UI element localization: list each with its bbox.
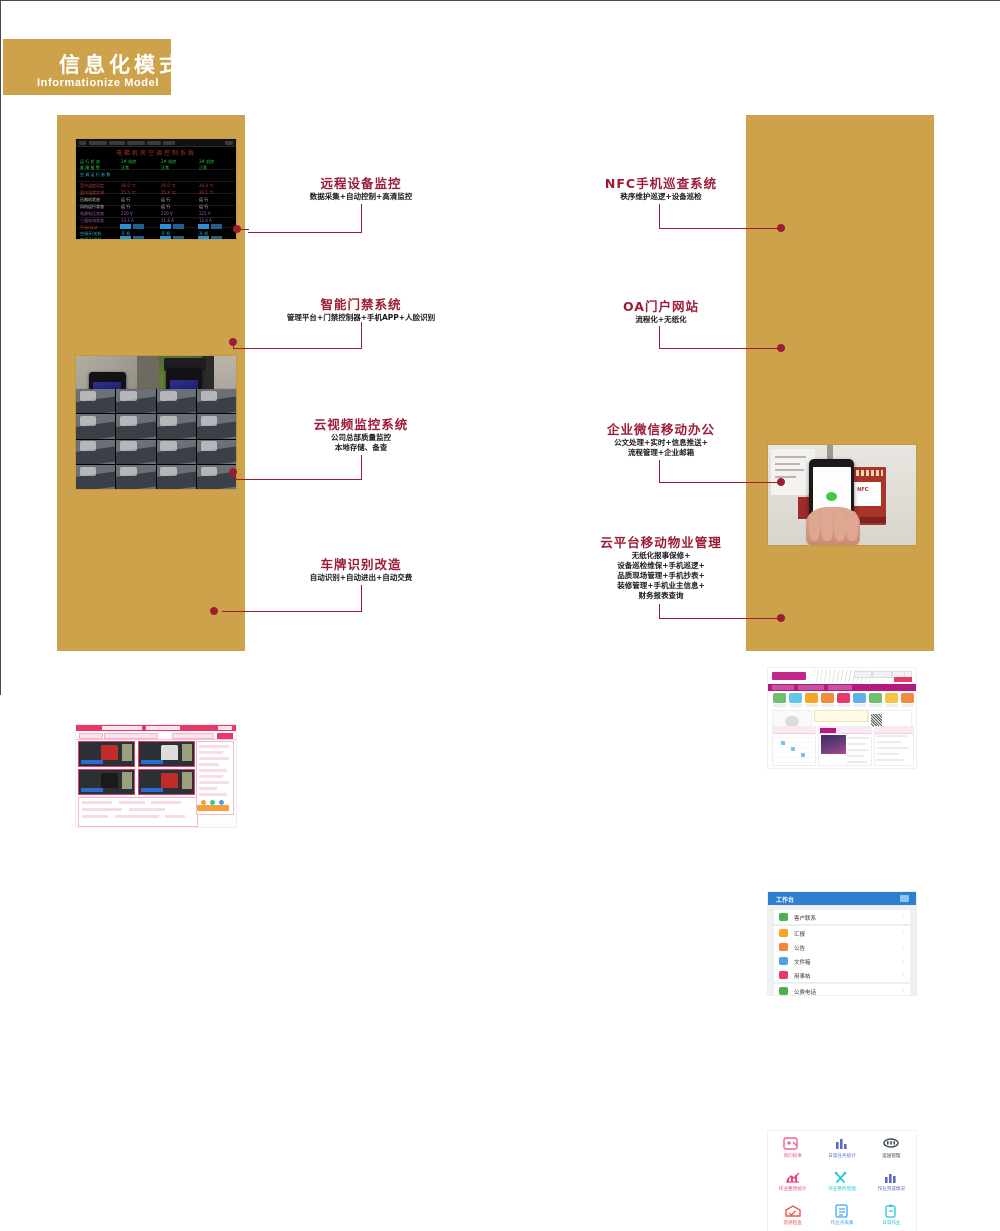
oa-notice-strip <box>814 710 868 722</box>
connector-line <box>659 482 781 484</box>
cctv-tile <box>76 440 115 464</box>
label-subtitle: 流程化+无纸化 <box>559 315 763 325</box>
label-cloud-video-surveillance: 云视频监控系统 公司总部质量监控 本地存储、备查 <box>259 417 463 453</box>
phone-icon <box>779 987 788 995</box>
cctv-tile <box>76 414 115 438</box>
connector-line <box>233 479 249 481</box>
poster-root: 信息化模式 Informationize Model 电梯机房空调控制系统 运 … <box>0 0 1000 695</box>
hand <box>806 507 859 545</box>
label-license-plate-recognition: 车牌识别改造 自动识别+自动进出+自动交费 <box>259 557 463 583</box>
cctv-tile <box>197 414 236 438</box>
oa-calendar-panel[interactable] <box>772 726 816 766</box>
cctv-tile <box>76 465 115 489</box>
label-cloud-mobile-property-management: 云平台移动物业管理 无纸化报事保修+ 设备巡检维保+手机巡逻+ 品质现场管理+手… <box>559 535 763 601</box>
cctv-tile <box>157 440 196 464</box>
list-item-label: 汇报 <box>794 930 805 938</box>
nfc-scan-indicator <box>826 492 837 502</box>
tile-label: 日常作业 <box>867 1220 916 1226</box>
chevron-right-icon: › <box>903 930 905 937</box>
list-item-label: 公费电话 <box>794 988 816 995</box>
anpr-confirm-button[interactable] <box>197 805 229 811</box>
connector-line <box>361 322 363 348</box>
transport-icon <box>881 1136 901 1152</box>
cctv-tile <box>197 440 236 464</box>
list-item[interactable]: 汇报 › <box>774 926 910 941</box>
connector-line <box>659 618 781 620</box>
report-icon <box>779 929 788 937</box>
tile-label: 我的报事 <box>768 1153 817 1159</box>
label-subtitle: 数据采集+自动控制+高清监控 <box>259 192 463 202</box>
wx-plus-icon[interactable] <box>900 895 909 902</box>
label-subtitle: 公文处理+实时+信息推送+ <box>559 438 763 448</box>
cctv-tile <box>116 414 155 438</box>
cctv-tile <box>116 465 155 489</box>
list-item[interactable]: 客户联系 › <box>774 910 910 925</box>
label-nfc-mobile-patrol: NFC手机巡查系统 秩序维护巡逻+设备巡检 <box>559 176 763 202</box>
connector-line <box>222 611 362 613</box>
label-enterprise-wechat-mobile-office: 企业微信移动办公 公文处理+实时+信息推送+ 流程管理+企业邮箱 <box>559 422 763 458</box>
anpr-toolbar[interactable] <box>76 731 236 740</box>
tile-rectify-mgmt[interactable]: 作业整改管理 <box>817 1164 866 1197</box>
label-title: 智能门禁系统 <box>249 297 473 313</box>
label-subtitle: 财务报表查询 <box>559 591 763 601</box>
note-icon <box>779 971 788 979</box>
connector-line <box>659 228 781 230</box>
list-item-label: 用事帖 <box>794 972 811 980</box>
scada-grid: 运 行 状 态 故 障 报 警 空 调 运 行 参 数 室内温度设定 室内温度实… <box>78 157 234 237</box>
label-subtitle: 秩序维护巡逻+设备巡检 <box>559 192 763 202</box>
label-subtitle: 装修管理+手机业主信息+ <box>559 581 763 591</box>
connector-line <box>361 585 363 611</box>
anpr-camera-views <box>78 741 196 795</box>
connector-line <box>237 229 249 231</box>
cctv-tile <box>197 389 236 413</box>
list-item-label: 公告 <box>794 944 805 952</box>
tile-workpoint-collect[interactable]: 作业点采集 <box>817 1198 866 1231</box>
home-check-icon <box>783 1203 803 1219</box>
cctv-multi-view-grid <box>76 389 236 489</box>
list-item-label: 文件箱 <box>794 958 811 966</box>
license-plate-recognition-software <box>76 725 236 827</box>
enterprise-wechat-workbench-screenshot: 工作台 客户联系 › 汇报 › 公告 › 文件箱 › 用事帖 › <box>768 892 916 995</box>
label-title: 远程设备监控 <box>259 176 463 192</box>
connector-line <box>248 232 362 234</box>
list-item[interactable]: 用事帖 › <box>774 968 910 983</box>
page-title-cn: 信息化模式 <box>59 49 184 79</box>
connector-line <box>659 460 661 482</box>
connector-line <box>248 348 362 350</box>
label-oa-portal-website: OA门户网站 流程化+无纸化 <box>559 299 763 325</box>
anpr-capture-list[interactable] <box>78 797 198 827</box>
connector-line <box>361 455 363 479</box>
chevron-right-icon: › <box>903 958 905 965</box>
oa-quick-icons[interactable] <box>771 693 913 707</box>
label-remote-equipment-monitoring: 远程设备监控 数据采集+自动控制+高清监控 <box>259 176 463 202</box>
label-subtitle: 流程管理+企业邮箱 <box>559 448 763 458</box>
tile-rectify-stats[interactable]: 作业整改统计 <box>768 1164 817 1197</box>
tile-my-reports[interactable]: 我的报事 <box>768 1131 817 1164</box>
connector-dot <box>777 224 785 232</box>
scada-title: 电梯机房空调控制系统 <box>116 148 196 157</box>
label-title: 云视频监控系统 <box>259 417 463 433</box>
filebox-icon <box>779 957 788 965</box>
label-subtitle: 设备巡检维保+手机巡逻+ <box>559 561 763 571</box>
trend-chart-icon <box>783 1170 803 1186</box>
chevron-right-icon: › <box>903 972 905 979</box>
cctv-tile <box>157 389 196 413</box>
tile-label: 运送管理 <box>867 1153 916 1159</box>
tools-icon <box>832 1170 852 1186</box>
scada-titlebar <box>76 139 236 147</box>
list-icon <box>832 1203 852 1219</box>
tile-label: 作业点采集 <box>817 1220 866 1226</box>
list-item[interactable]: 公告 › <box>774 940 910 955</box>
tile-decoration-check[interactable]: 装修检查 <box>768 1198 817 1231</box>
scada-monitoring-screen: 电梯机房空调控制系统 运 行 状 态 故 障 报 警 空 调 运 行 参 数 室… <box>76 139 236 239</box>
connector-dot <box>777 478 785 486</box>
bar-chart-icon <box>832 1136 852 1152</box>
label-smart-access-control: 智能门禁系统 管理平台+门禁控制器+手机APP+人脸识别 <box>249 297 473 323</box>
oa-links-panel[interactable] <box>874 726 914 766</box>
list-item-label: 客户联系 <box>794 914 816 922</box>
tile-label: 作业完成情况 <box>867 1186 916 1192</box>
label-title: 企业微信移动办公 <box>559 422 763 438</box>
connector-dot <box>777 614 785 622</box>
label-subtitle: 本地存储、备查 <box>259 443 463 453</box>
connector-line <box>659 204 661 228</box>
list-item[interactable]: 文件箱 › <box>774 954 910 969</box>
connector-line <box>233 348 249 350</box>
stats-icon <box>881 1170 901 1186</box>
connector-line <box>659 326 661 348</box>
label-title: 云平台移动物业管理 <box>559 535 763 551</box>
cctv-tile <box>157 414 196 438</box>
label-title: 车牌识别改造 <box>259 557 463 573</box>
tile-label: 装修检查 <box>768 1220 817 1226</box>
oa-login-button[interactable] <box>894 677 912 682</box>
clipboard-icon <box>881 1203 901 1219</box>
oa-nav-bar[interactable] <box>768 684 916 691</box>
tile-label: 作业整改统计 <box>768 1186 817 1192</box>
label-subtitle: 无纸化报事保修+ <box>559 551 763 561</box>
list-item[interactable]: 公费电话 › <box>774 984 910 995</box>
label-subtitle: 公司总部质量监控 <box>259 433 463 443</box>
connector-dot <box>210 607 218 615</box>
page-title-en: Informationize Model <box>37 77 159 89</box>
connector-line <box>659 604 661 618</box>
wx-navbar: 工作台 <box>768 892 916 905</box>
connector-line <box>659 348 781 350</box>
connector-dot <box>777 344 785 352</box>
oa-logo <box>772 672 806 680</box>
label-title: OA门户网站 <box>559 299 763 315</box>
cloud-property-management-icon-grid: 我的报事 日常任务统计 运送管理 作业整改统计 作业整改管理 <box>768 1131 916 1231</box>
connector-line <box>361 204 363 232</box>
tile-completion-status[interactable]: 作业完成情况 <box>867 1164 916 1197</box>
cctv-tile <box>76 389 115 413</box>
connector-line <box>248 479 362 481</box>
chevron-right-icon: › <box>903 988 905 995</box>
cctv-tile <box>116 440 155 464</box>
nfc-phone-scanning-tag-photo: NFC <box>768 445 916 545</box>
anpr-side-panel[interactable] <box>196 741 234 815</box>
tile-label: 日常任务统计 <box>817 1153 866 1159</box>
contacts-icon <box>779 913 788 921</box>
chevron-right-icon: › <box>903 914 905 921</box>
chevron-right-icon: › <box>903 944 905 951</box>
label-subtitle: 自动识别+自动进出+自动交费 <box>259 573 463 583</box>
tile-transport-mgmt[interactable]: 运送管理 <box>867 1131 916 1164</box>
tile-daily-work[interactable]: 日常作业 <box>867 1198 916 1231</box>
label-title: NFC手机巡查系统 <box>559 176 763 192</box>
tile-label: 作业整改管理 <box>817 1186 866 1192</box>
report-icon <box>783 1136 803 1152</box>
right-gold-panel <box>746 115 934 651</box>
cctv-tile <box>157 465 196 489</box>
cctv-tile <box>116 389 155 413</box>
oa-header <box>768 668 916 685</box>
label-subtitle: 品质现场管理+手机抄表+ <box>559 571 763 581</box>
tile-daily-task-stats[interactable]: 日常任务统计 <box>817 1131 866 1164</box>
announcement-icon <box>779 943 788 951</box>
wx-nav-title: 工作台 <box>776 895 794 904</box>
oa-portal-website-screenshot <box>768 668 916 768</box>
